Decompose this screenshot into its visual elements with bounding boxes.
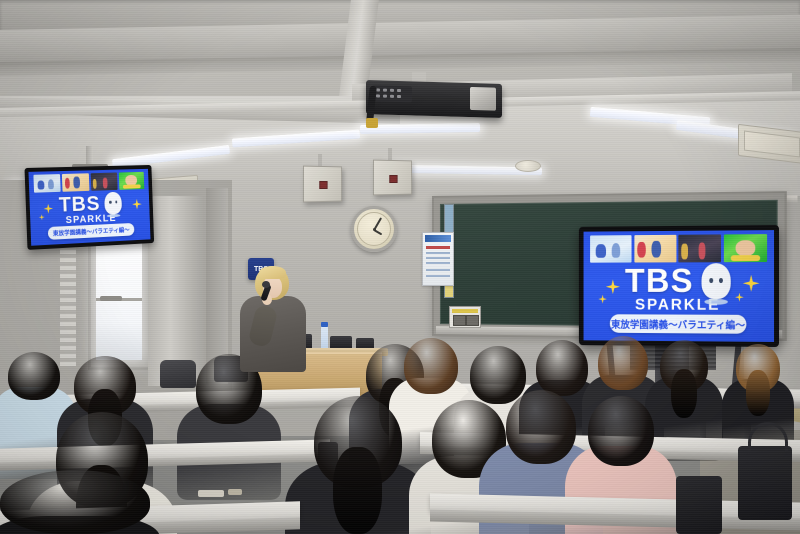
water-bottle-cap (321, 322, 328, 327)
student-head (598, 336, 648, 390)
thumbnail-2 (62, 173, 89, 192)
thumbnail-3 (679, 235, 721, 263)
student-ponytail (746, 370, 770, 416)
poster-header (425, 235, 451, 242)
main-display[interactable]: TBS SPARKLE 東放学園講義〜バラエティ編〜 (579, 225, 779, 347)
ceiling-display[interactable]: TBS SPARKLE 東放学園講義〜バラエティ編〜 (24, 165, 154, 250)
slide-thumbnail-strip (33, 172, 145, 193)
backpack (676, 476, 722, 534)
instruction-placard (449, 306, 481, 328)
wall-speaker (303, 166, 342, 203)
wall-poster (422, 232, 454, 286)
classroom-photo: TBS SPARKLE 東放学園講義〜バラエティ編〜 (0, 0, 800, 534)
tote-bag (738, 446, 792, 520)
stationery (228, 489, 242, 495)
student-head (0, 470, 150, 534)
student-head (506, 390, 576, 464)
projector-lens (470, 87, 496, 111)
thumbnail-1 (33, 174, 61, 193)
presenter-fringe (259, 266, 286, 279)
thumbnail-3 (91, 173, 118, 192)
thumbnail-2 (634, 235, 676, 263)
student-ponytail (333, 447, 381, 534)
ceiling-dome-fixture (515, 160, 541, 172)
wall-speaker (373, 160, 412, 196)
microphone-head (262, 281, 270, 288)
placard-header (452, 309, 478, 313)
tbs-wordmark: TBS (625, 266, 694, 297)
mascot-icon (702, 264, 731, 300)
student-head (536, 340, 588, 396)
slide-logo-block: TBS SPARKLE (584, 266, 774, 313)
slide-caption-text: 東放学園講義〜バラエティ編〜 (53, 225, 130, 238)
slide-caption-pill: 東放学園講義〜バラエティ編〜 (48, 223, 134, 240)
slide-logo-block: TBS SPARKLE (29, 191, 149, 226)
tbs-wordmark: TBS (59, 194, 101, 215)
thumbnail-4 (724, 235, 767, 263)
projector-icon (366, 80, 502, 118)
student-head (8, 352, 60, 400)
clock-center-pin (373, 228, 376, 231)
door-handle[interactable] (100, 296, 122, 301)
projector-plug (366, 118, 378, 128)
slide-caption-pill: 東放学園講義〜バラエティ編〜 (610, 314, 747, 334)
wall-clock (351, 206, 397, 252)
student (0, 470, 170, 534)
stationery (198, 490, 224, 497)
thumbnail-1 (590, 236, 631, 264)
thumbnail-4 (118, 172, 144, 191)
slide-caption-text: 東放学園講義〜バラエティ編〜 (611, 316, 745, 332)
mascot-icon (104, 191, 122, 214)
slide-thumbnail-strip (590, 235, 767, 264)
projector-control-panel (372, 85, 412, 102)
student-head (404, 338, 458, 394)
presentation-slide: TBS SPARKLE 東放学園講義〜バラエティ編〜 (584, 230, 774, 342)
presentation-slide-repeat: TBS SPARKLE 東放学園講義〜バラエティ編〜 (28, 169, 150, 246)
clock-face (357, 212, 391, 246)
student-head (588, 396, 654, 466)
